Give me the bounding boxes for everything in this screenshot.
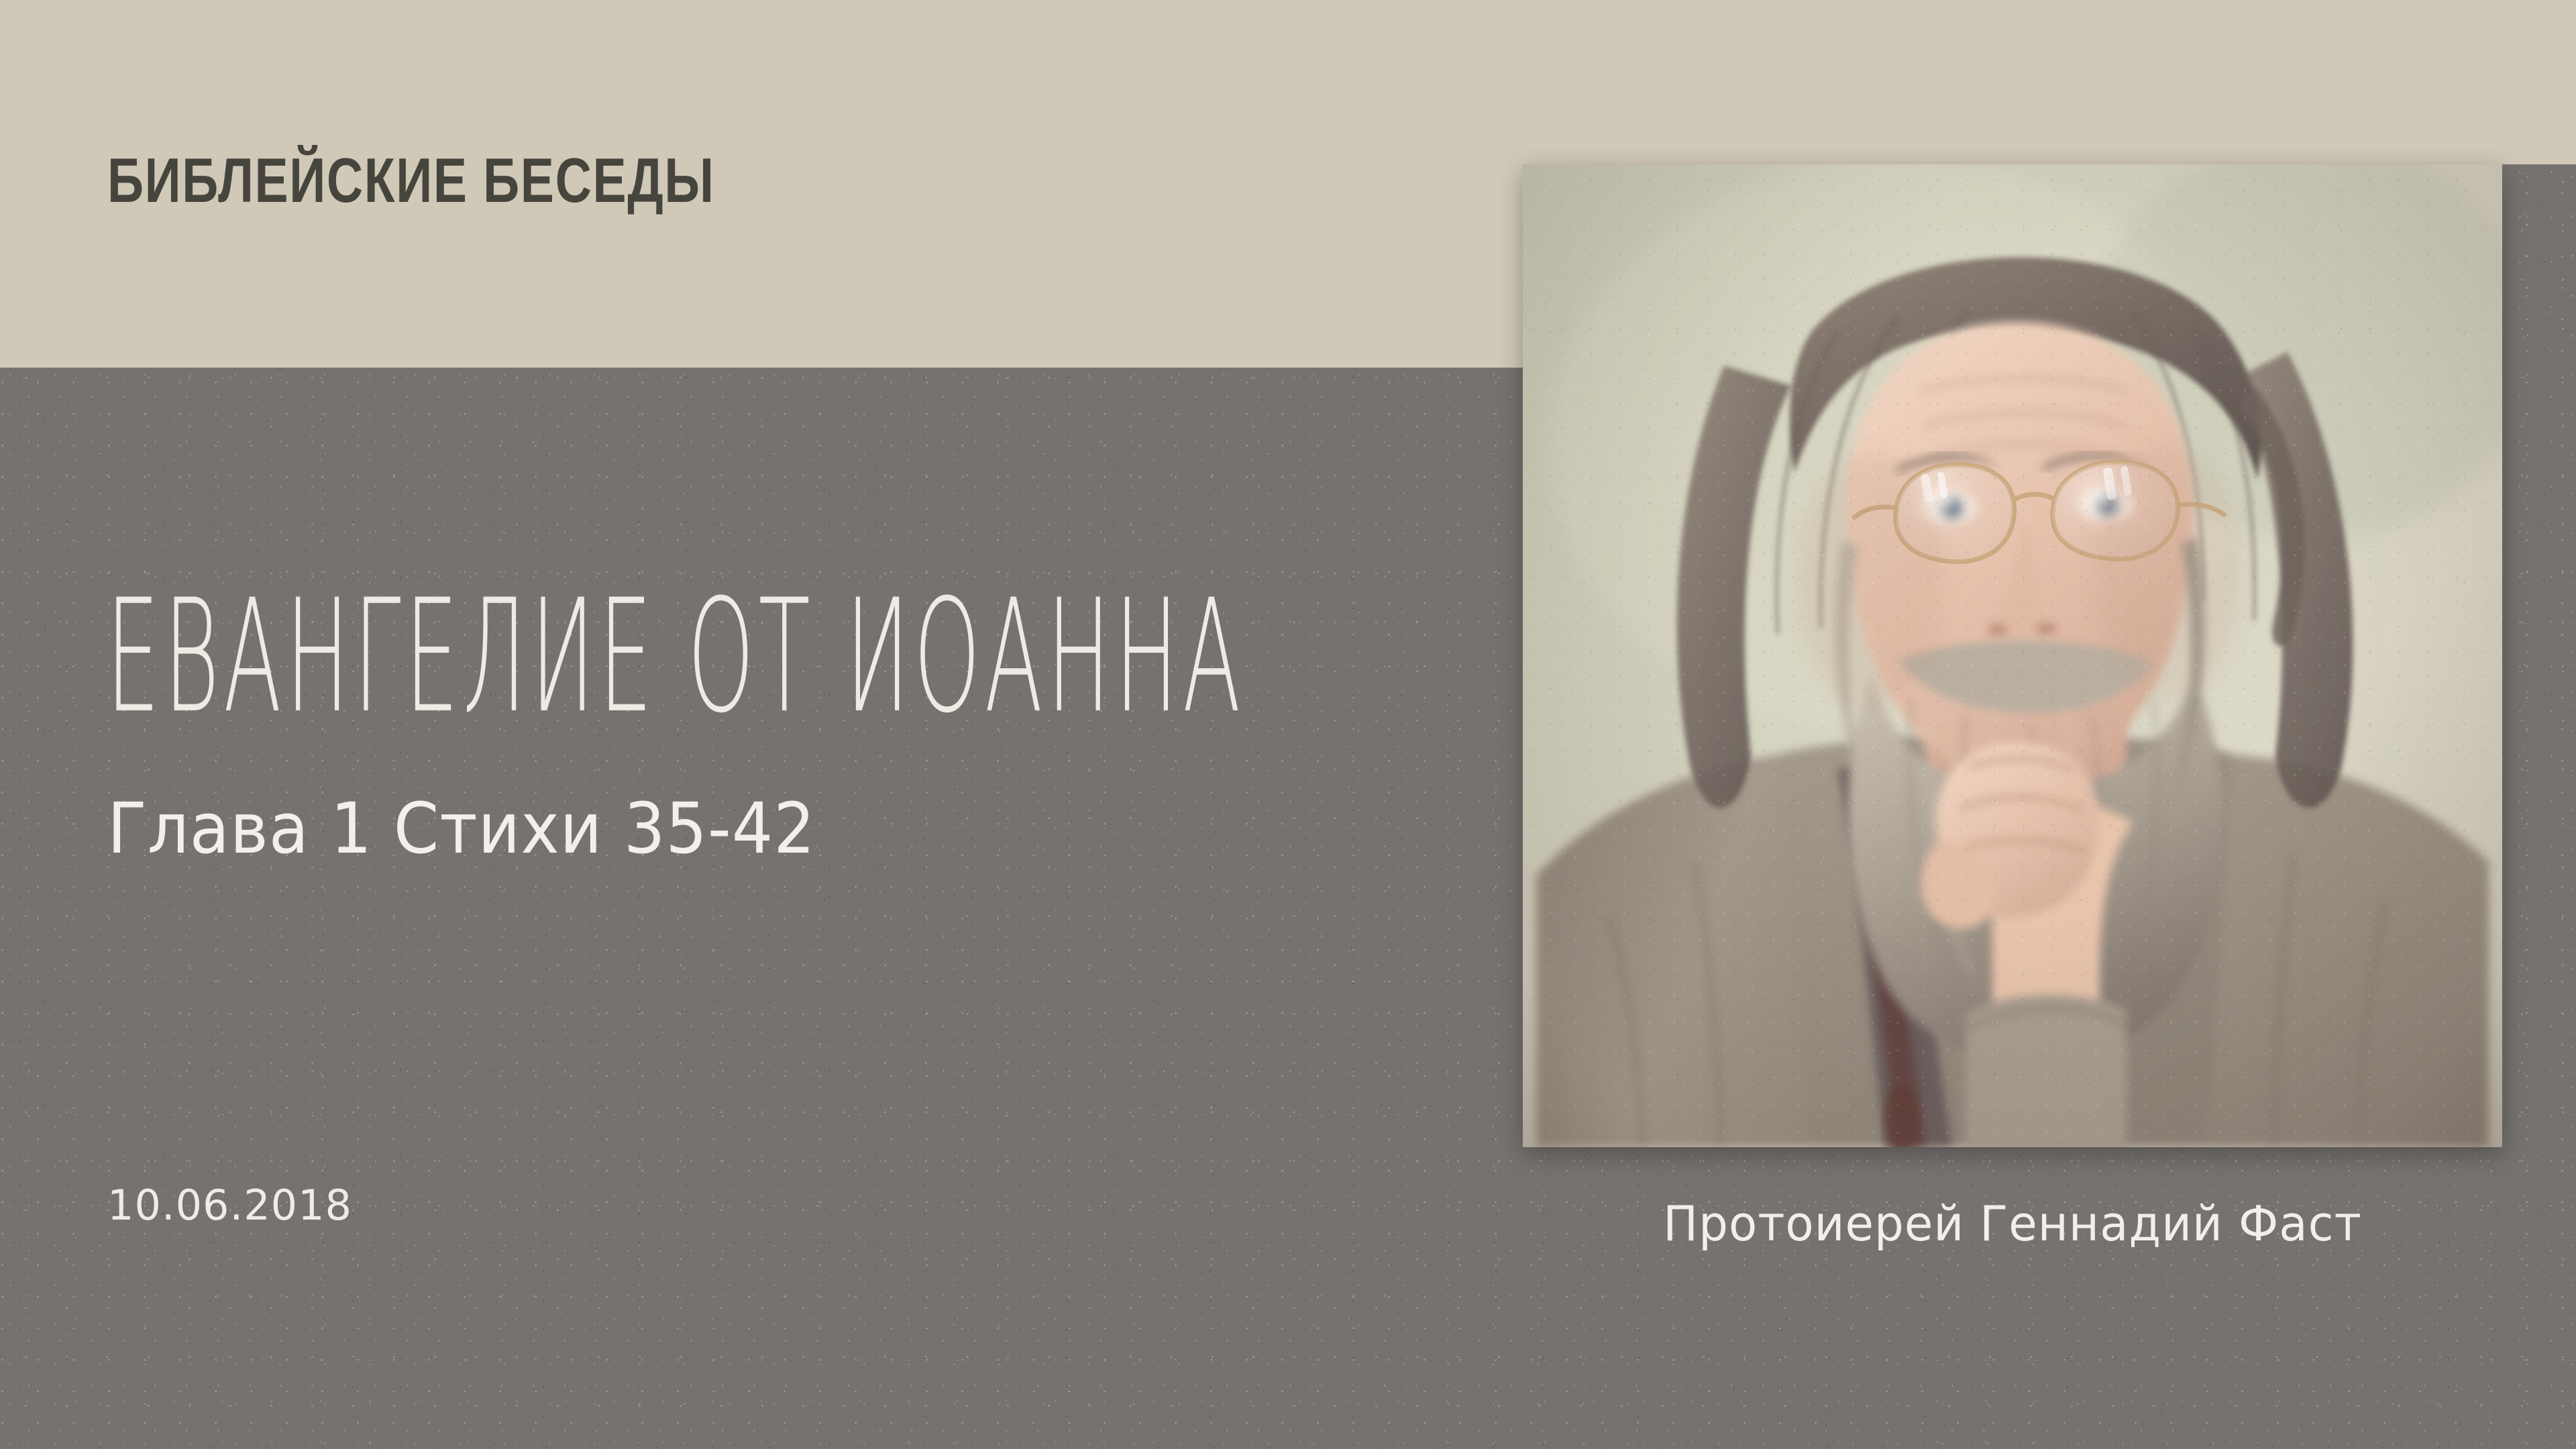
chapter-verse-subtitle: Глава 1 Стихи 35-42 xyxy=(107,794,816,863)
date-label: 10.06.2018 xyxy=(107,1185,352,1226)
presentation-slide: БИБЛЕЙСКИЕ БЕСЕДЫ ЕВАНГЕЛИЕ ОТ ИОАННА Гл… xyxy=(0,0,2576,1449)
speaker-portrait-photo xyxy=(1523,164,2502,1147)
background-beige-right-strip xyxy=(1523,0,2576,164)
page-title: ЕВАНГЕЛИЕ ОТ ИОАННА xyxy=(106,578,1245,735)
portrait-illustration xyxy=(1523,164,2502,1147)
series-label: БИБЛЕЙСКИЕ БЕСЕДЫ xyxy=(107,149,715,212)
speaker-name-caption: Протоиерей Геннадий Фаст xyxy=(1542,1199,2483,1248)
